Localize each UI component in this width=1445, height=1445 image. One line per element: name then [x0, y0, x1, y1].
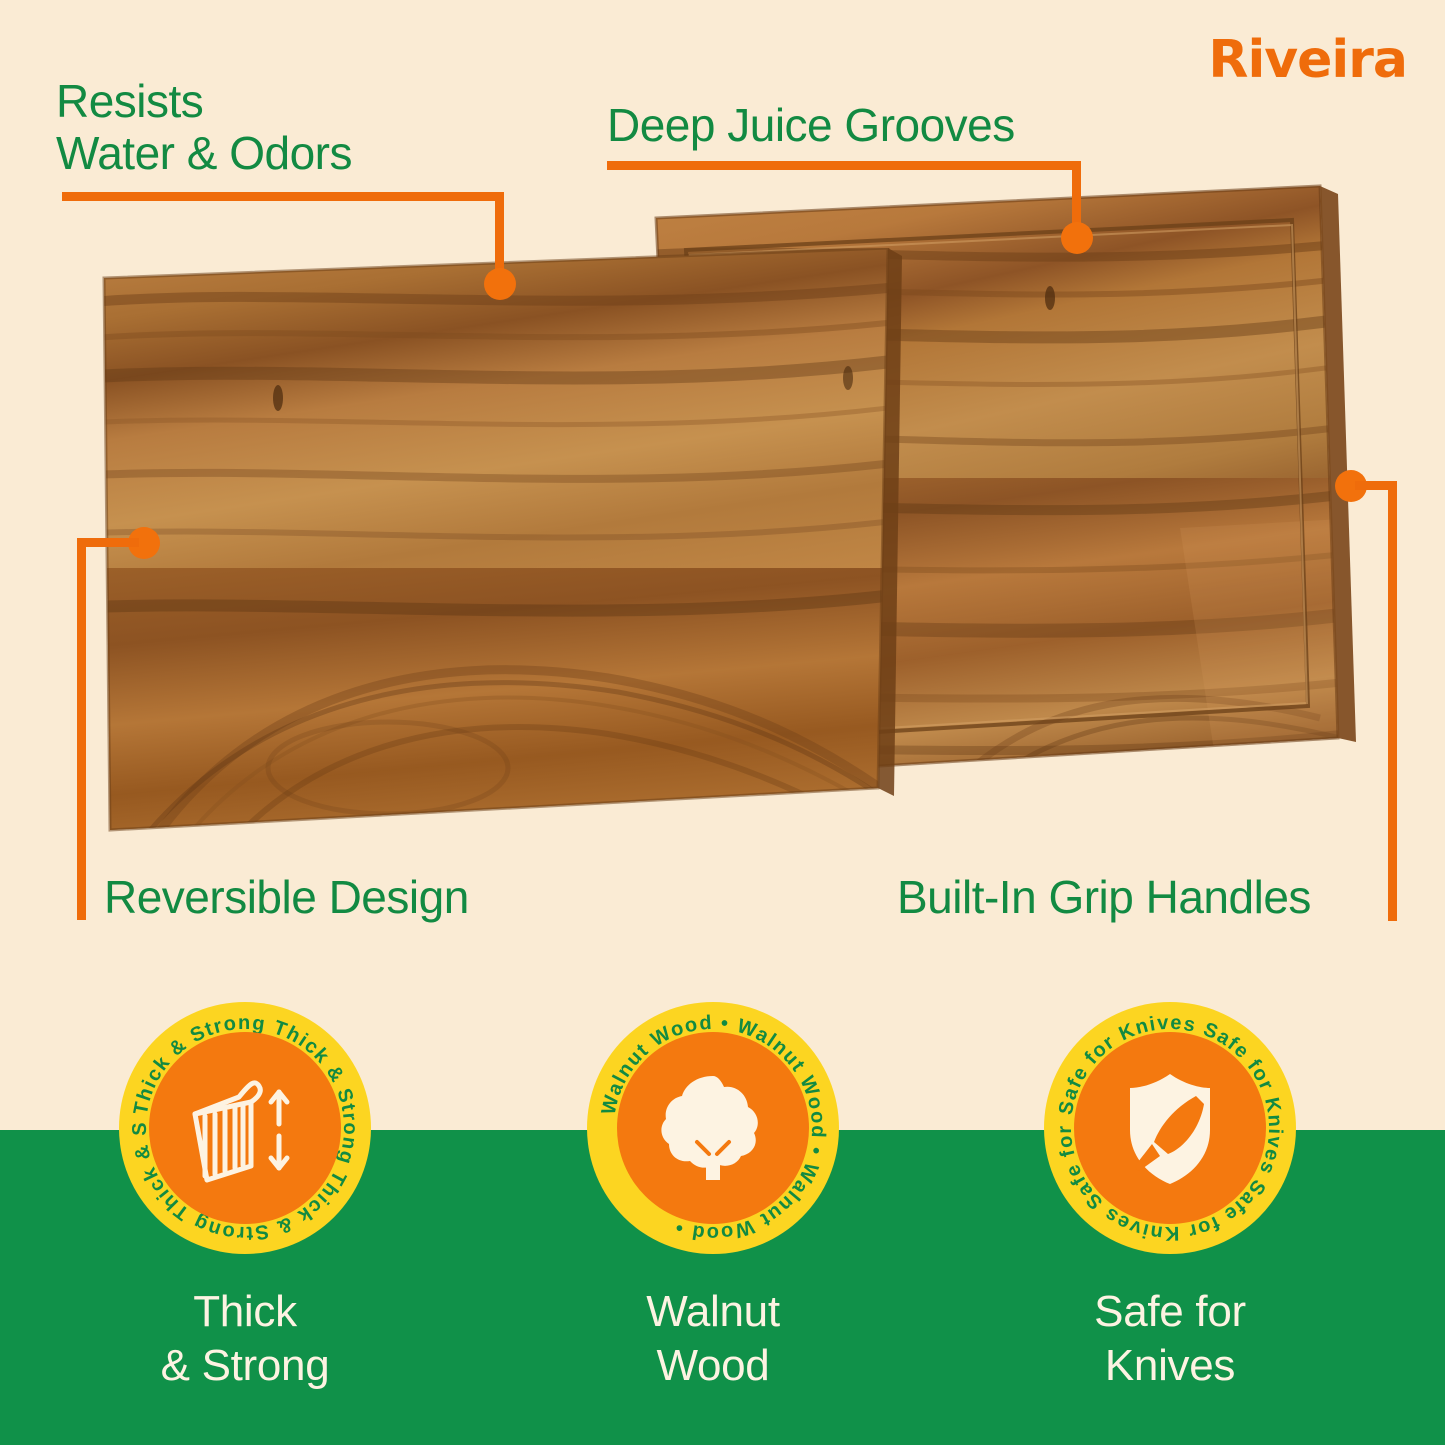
badge-core-knives	[1074, 1032, 1266, 1224]
badge-walnut-wood: Walnut Wood • Walnut Wood • Walnut Wood …	[587, 1002, 839, 1254]
infographic-canvas: Resists Water & Odors Deep Juice Grooves…	[0, 0, 1445, 1445]
callout-label-reversible: Reversible Design	[104, 872, 469, 924]
connector-line-water	[62, 192, 504, 201]
badge-thick-strong: Thick & Strong Thick & Strong Thick & St…	[119, 1002, 371, 1254]
badge-caption-walnut: Walnut Wood	[533, 1285, 893, 1392]
connector-line-handles-down	[1388, 481, 1397, 921]
badge-core-thick	[149, 1032, 341, 1224]
cutting-board-front	[88, 248, 918, 848]
callout-label-handles: Built-In Grip Handles	[897, 872, 1311, 924]
connector-line-grooves	[607, 161, 1081, 170]
badge-safe-for-knives: Safe for Knives Safe for Knives Safe for…	[1044, 1002, 1296, 1254]
callout-dot-grooves	[1061, 222, 1093, 254]
shield-knife-icon	[1104, 1062, 1236, 1194]
badge-core-walnut	[617, 1032, 809, 1224]
connector-line-reversible-down	[77, 538, 86, 920]
tree-icon	[647, 1062, 779, 1194]
callout-label-water: Resists Water & Odors	[56, 76, 352, 179]
badge-caption-knives: Safe for Knives	[990, 1285, 1350, 1392]
callout-label-grooves: Deep Juice Grooves	[607, 100, 1015, 152]
badge-caption-thick: Thick & Strong	[65, 1285, 425, 1392]
board-thickness-icon	[179, 1062, 311, 1194]
callout-dot-water	[484, 268, 516, 300]
connector-line-reversible	[77, 538, 139, 547]
brand-logo: Riveira	[1208, 30, 1407, 90]
